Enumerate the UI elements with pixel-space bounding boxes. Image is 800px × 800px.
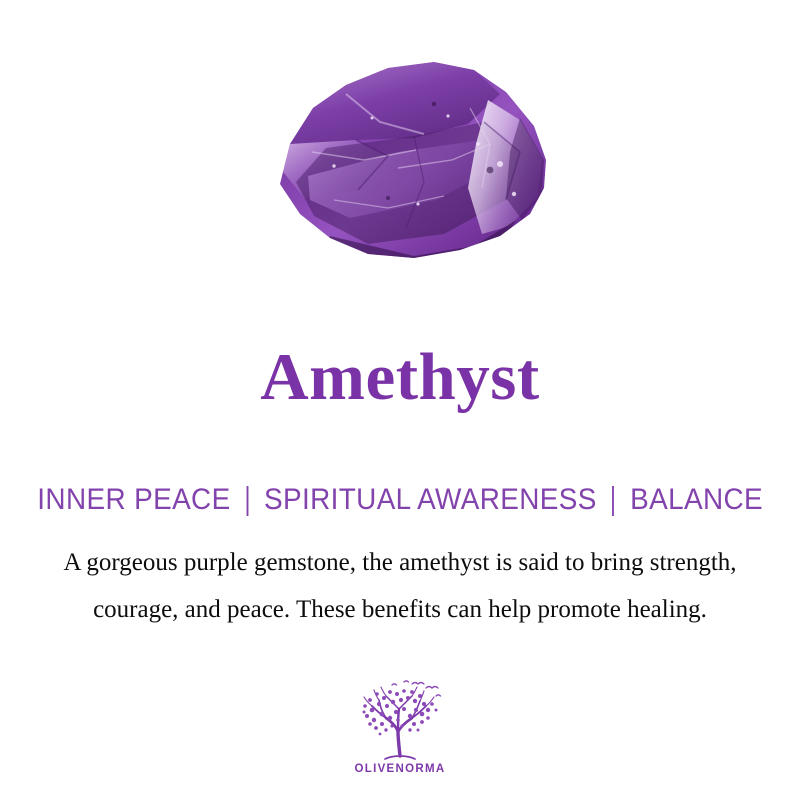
amethyst-info-card: Amethyst INNER PEACE SPIRITUAL AWARENESS… — [0, 0, 800, 800]
brand-wordmark: OLIVENORMA — [355, 763, 446, 775]
amethyst-crystal-illustration — [238, 48, 568, 278]
page-title: Amethyst — [260, 344, 539, 411]
keyword-spiritual-awareness: SPIRITUAL AWARENESS — [264, 483, 597, 517]
keyword-balance: BALANCE — [630, 483, 763, 517]
description-text: A gorgeous purple gemstone, the amethyst… — [50, 539, 750, 633]
keyword-separator-2 — [612, 486, 614, 516]
keyword-inner-peace: INNER PEACE — [37, 483, 230, 517]
hero-image-area — [0, 0, 800, 320]
keyword-separator-1 — [246, 486, 248, 516]
keyword-list: INNER PEACE SPIRITUAL AWARENESS BALANCE — [37, 483, 763, 517]
amethyst-gemstone-image — [238, 48, 568, 278]
tree-of-life-icon — [352, 676, 448, 762]
brand-logo: OLIVENORMA — [0, 676, 800, 775]
